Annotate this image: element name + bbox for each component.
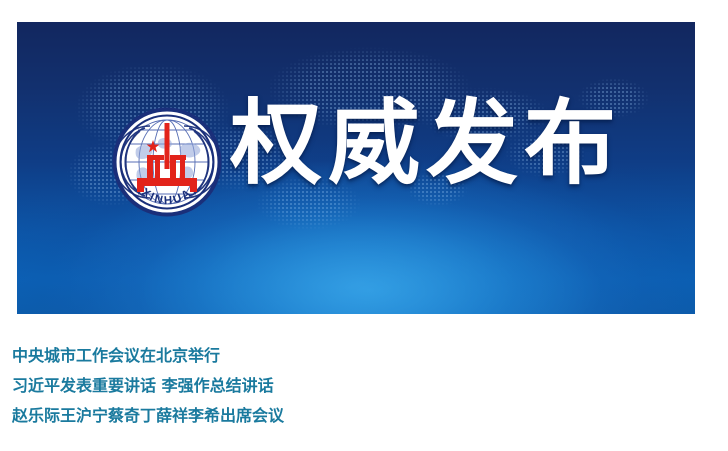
headline-line-2[interactable]: 习近平发表重要讲话 李强作总结讲话 (12, 371, 712, 401)
headline-line-1[interactable]: 中央城市工作会议在北京举行 (12, 341, 712, 371)
article-headline-block: 中央城市工作会议在北京举行 习近平发表重要讲话 李强作总结讲话 赵乐际王沪宁蔡奇… (12, 341, 712, 431)
banner-title: 权威发布 (230, 98, 622, 190)
headline-line-3[interactable]: 赵乐际王沪宁蔡奇丁薛祥李希出席会议 (12, 401, 712, 431)
authoritative-release-banner: XINHUA 权威发布 (17, 22, 695, 314)
xinhua-logo: XINHUA (110, 105, 224, 219)
